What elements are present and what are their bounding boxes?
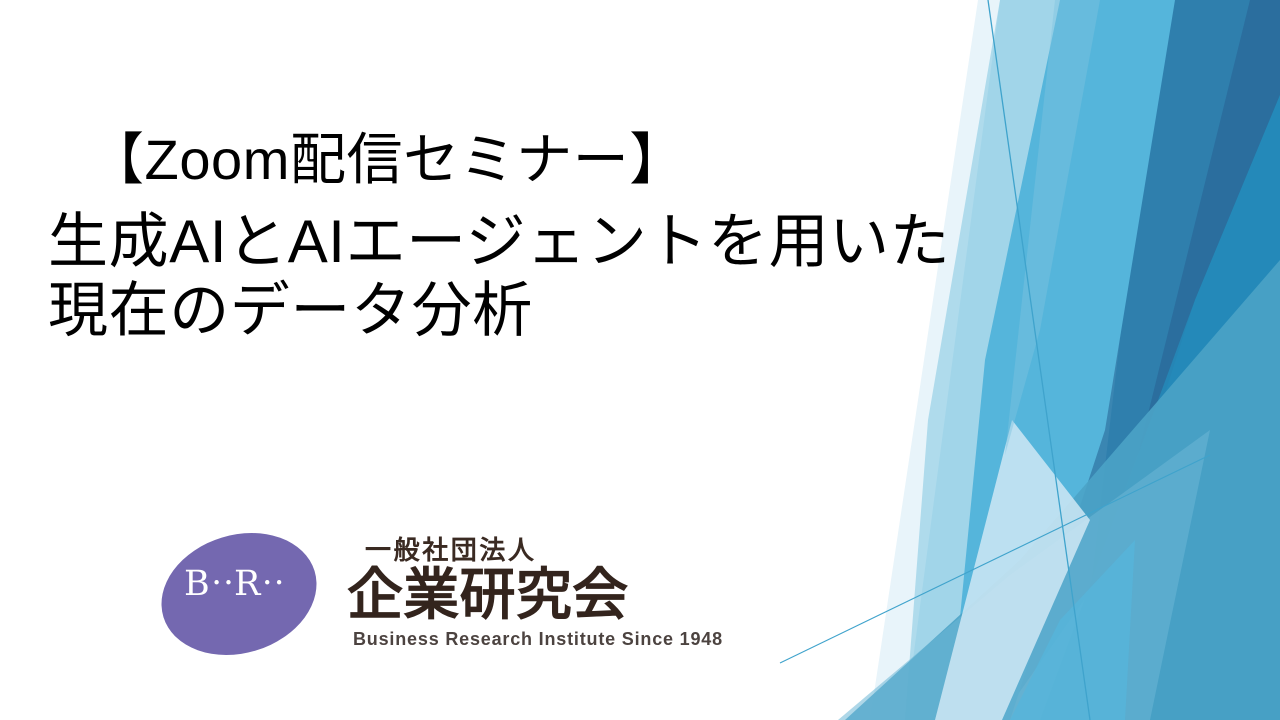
slide-title-block: 【Zoom配信セミナー】 生成AIとAIエージェントを用いた 現在のデータ分析 bbox=[0, 126, 1210, 345]
decor-shape-dark-right bbox=[1075, 0, 1280, 720]
title-line-main-1: 生成AIとAIエージェントを用いた bbox=[0, 208, 1210, 276]
decor-shape-midcyan-sweep bbox=[905, 0, 1175, 720]
bri-initials: B･･R･･I bbox=[184, 567, 334, 602]
decor-hairline-shallow bbox=[780, 455, 1210, 663]
decor-hairline-steep bbox=[988, 0, 1090, 720]
decor-shape-faint-sliver bbox=[870, 0, 1000, 720]
bri-initial-i: I bbox=[285, 564, 299, 604]
bri-separator-2: ･･ bbox=[261, 568, 285, 598]
title-line-main-2: 現在のデータ分析 bbox=[0, 277, 1210, 345]
bri-initial-b: B bbox=[184, 564, 210, 604]
decor-shape-paleblue-flank bbox=[880, 0, 1060, 720]
logo-corporate-form: 一般社団法人 bbox=[347, 536, 723, 565]
bri-logo-mark: B･･R･･I bbox=[158, 523, 333, 663]
title-line-seminar-format: 【Zoom配信セミナー】 bbox=[0, 126, 1210, 194]
logo-organization-name: 企業研究会 bbox=[347, 566, 723, 624]
bri-initial-r: R bbox=[234, 564, 261, 604]
decor-shape-soft-overlay bbox=[838, 430, 1210, 720]
bri-logo-wordmark: 一般社団法人 企業研究会 Business Research Institute… bbox=[347, 536, 723, 650]
decor-shape-pale-bottom-wedge bbox=[935, 420, 1090, 720]
decor-shape-steel-band bbox=[930, 0, 1250, 720]
bri-logo: B･･R･･I 一般社団法人 企業研究会 Business Research I… bbox=[158, 515, 718, 670]
logo-tagline: Business Research Institute Since 1948 bbox=[347, 630, 723, 650]
bri-separator-1: ･･ bbox=[210, 568, 234, 598]
decor-shape-bright-notch bbox=[1010, 540, 1135, 720]
title-slide: 【Zoom配信セミナー】 生成AIとAIエージェントを用いた 現在のデータ分析 … bbox=[0, 0, 1280, 720]
